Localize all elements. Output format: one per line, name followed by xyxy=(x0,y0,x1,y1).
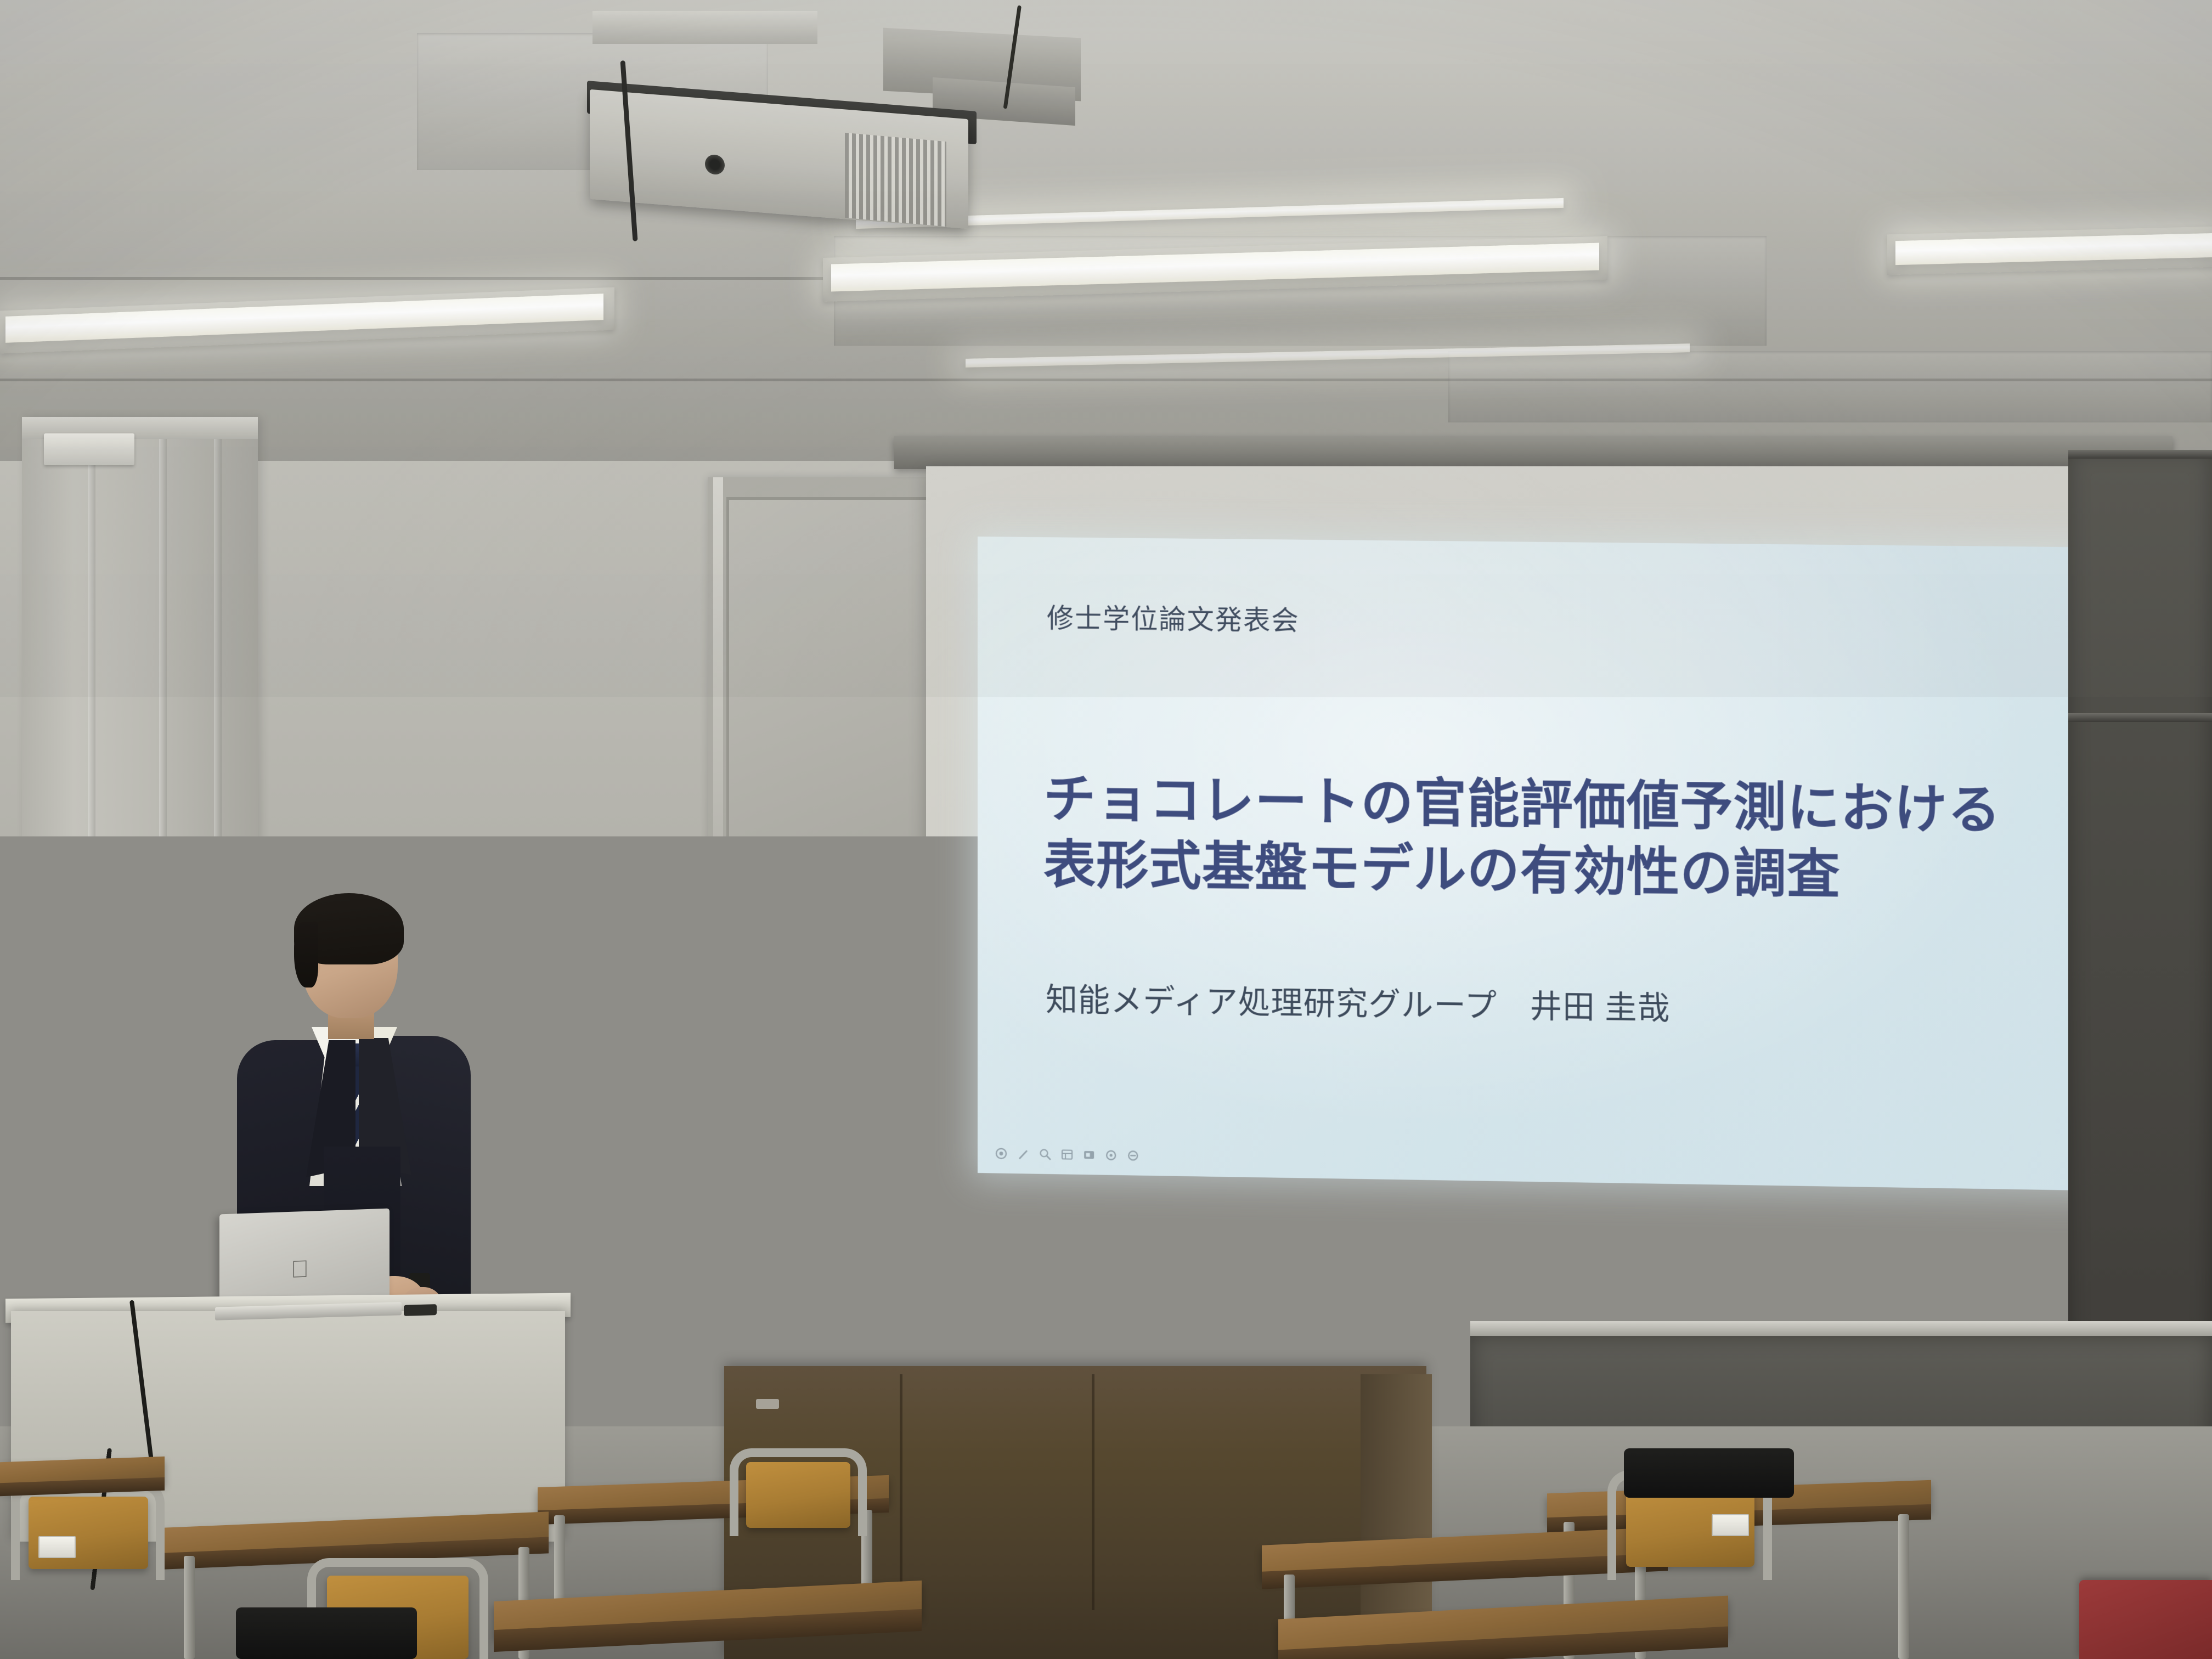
desk-panel-seam xyxy=(900,1374,902,1610)
magnifier-icon[interactable] xyxy=(1038,1147,1052,1161)
desk-name-tag xyxy=(38,1536,76,1558)
slide-grid-icon[interactable] xyxy=(1060,1147,1074,1161)
more-options-icon[interactable] xyxy=(1104,1148,1118,1162)
desk-name-tag xyxy=(1712,1514,1749,1536)
ceiling-seam xyxy=(0,277,867,280)
apple-logo-icon:  xyxy=(291,1257,314,1284)
desk-handle[interactable] xyxy=(756,1399,779,1409)
pen-icon[interactable] xyxy=(1016,1147,1030,1160)
room-shell: 修士学位論文発表会 チョコレートの官能評価値予測における 表形式基盤モデルの有効… xyxy=(0,0,2212,1659)
bag-on-chair xyxy=(1624,1448,1794,1498)
red-object-foreground xyxy=(2079,1580,2212,1659)
wall-alcove xyxy=(22,417,258,1223)
chair-backrest xyxy=(29,1497,148,1569)
projector-vent xyxy=(845,133,946,227)
screen-housing xyxy=(894,436,2172,469)
pointer-icon[interactable] xyxy=(994,1146,1008,1160)
slide-title-line-2: 表形式基盤モデルの有効性の調査 xyxy=(1043,832,2075,911)
bag-on-desk xyxy=(236,1607,417,1659)
desk-panel-seam xyxy=(1092,1374,1094,1610)
blackboard-top-trim xyxy=(1470,1321,2212,1338)
slide-subtitle-author: 知能メディア処理研究グループ 井田 圭哉 xyxy=(1046,974,1671,1029)
desk-leg xyxy=(1898,1514,1909,1659)
projected-slide: 修士学位論文発表会 チョコレートの官能評価値予測における 表形式基盤モデルの有効… xyxy=(978,537,2120,1191)
whiteboard-rail xyxy=(713,477,723,1355)
menu-icon[interactable] xyxy=(1126,1148,1139,1162)
present-icon[interactable] xyxy=(1082,1148,1096,1161)
projector-mount-plate xyxy=(592,11,817,44)
alcove-lamp xyxy=(44,433,134,465)
power-adapter xyxy=(29,1278,127,1298)
desk-leg xyxy=(184,1556,195,1659)
blackboard-right xyxy=(2068,450,2212,1350)
slide-eyebrow-text: 修士学位論文発表会 xyxy=(1047,596,1300,638)
remote-on-lectern[interactable] xyxy=(404,1304,437,1316)
presenter-toolbar[interactable] xyxy=(994,1146,1139,1162)
slide-title: チョコレートの官能評価値予測における 表形式基盤モデルの有効性の調査 xyxy=(1043,766,2075,911)
blackboard-rail xyxy=(2068,713,2212,722)
blackboard-rail xyxy=(2068,450,2212,459)
hair-sideburn xyxy=(294,922,318,988)
lecture-room-photo: 修士学位論文発表会 チョコレートの官能評価値予測における 表形式基盤モデルの有効… xyxy=(0,0,2212,1659)
chair-backrest xyxy=(746,1462,850,1528)
ceiling-panel xyxy=(1448,351,2212,422)
slide-title-line-1: チョコレートの官能評価値予測における xyxy=(1043,766,2075,845)
